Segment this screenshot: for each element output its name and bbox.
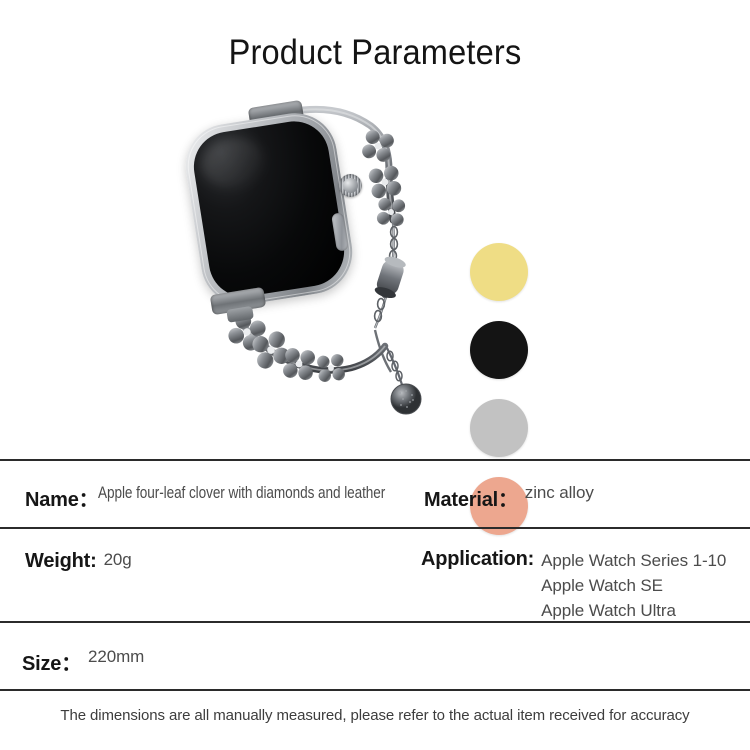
application-value: Apple Watch SE	[541, 573, 726, 598]
watch-case	[180, 107, 359, 311]
spec-weight-value: 20g	[104, 550, 132, 570]
application-value: Apple Watch Series 1-10	[541, 548, 726, 573]
measurement-disclaimer: The dimensions are all manually measured…	[0, 707, 750, 724]
table-row: Name： Apple four-leaf clover with diamon…	[0, 459, 750, 527]
gold-swatch[interactable]	[470, 243, 528, 301]
spec-weight-cell: Weight: 20g	[25, 550, 132, 573]
screen-glint	[198, 133, 268, 192]
watch-screen	[189, 116, 349, 301]
page-title: Product Parameters	[26, 33, 724, 73]
spec-weight-label: Weight:	[25, 550, 97, 573]
spec-material-label: Material：	[424, 483, 518, 512]
table-divider	[0, 689, 750, 691]
spec-name-label: Name：	[25, 483, 98, 512]
spec-size-value: 220mm	[88, 647, 144, 667]
spec-size-cell: Size： 220mm	[22, 647, 144, 676]
clover-charm	[226, 311, 346, 383]
spec-name-cell: Name： Apple four-leaf clover with diamon…	[25, 483, 458, 512]
spec-name-value: Apple four-leaf clover with diamonds and…	[98, 483, 385, 503]
clover-charm	[361, 129, 406, 227]
spec-application-cell: Application: Apple Watch Series 1-10 App…	[421, 548, 726, 623]
product-image-area	[0, 95, 750, 440]
spec-application-label: Application:	[421, 548, 534, 571]
silver-swatch[interactable]	[470, 399, 528, 457]
application-value: Apple Watch Ultra	[541, 598, 726, 623]
table-row: Weight: 20g Application: Apple Watch Ser…	[0, 527, 750, 621]
spec-material-cell: Material： zinc alloy	[424, 483, 594, 512]
apple-watch-product-photo	[175, 100, 465, 430]
black-swatch[interactable]	[470, 321, 528, 379]
spec-material-value: zinc alloy	[525, 483, 594, 503]
spec-size-label: Size：	[22, 647, 81, 676]
spec-application-values: Apple Watch Series 1-10 Apple Watch SE A…	[541, 548, 726, 623]
table-row: Size： 220mm	[0, 621, 750, 689]
